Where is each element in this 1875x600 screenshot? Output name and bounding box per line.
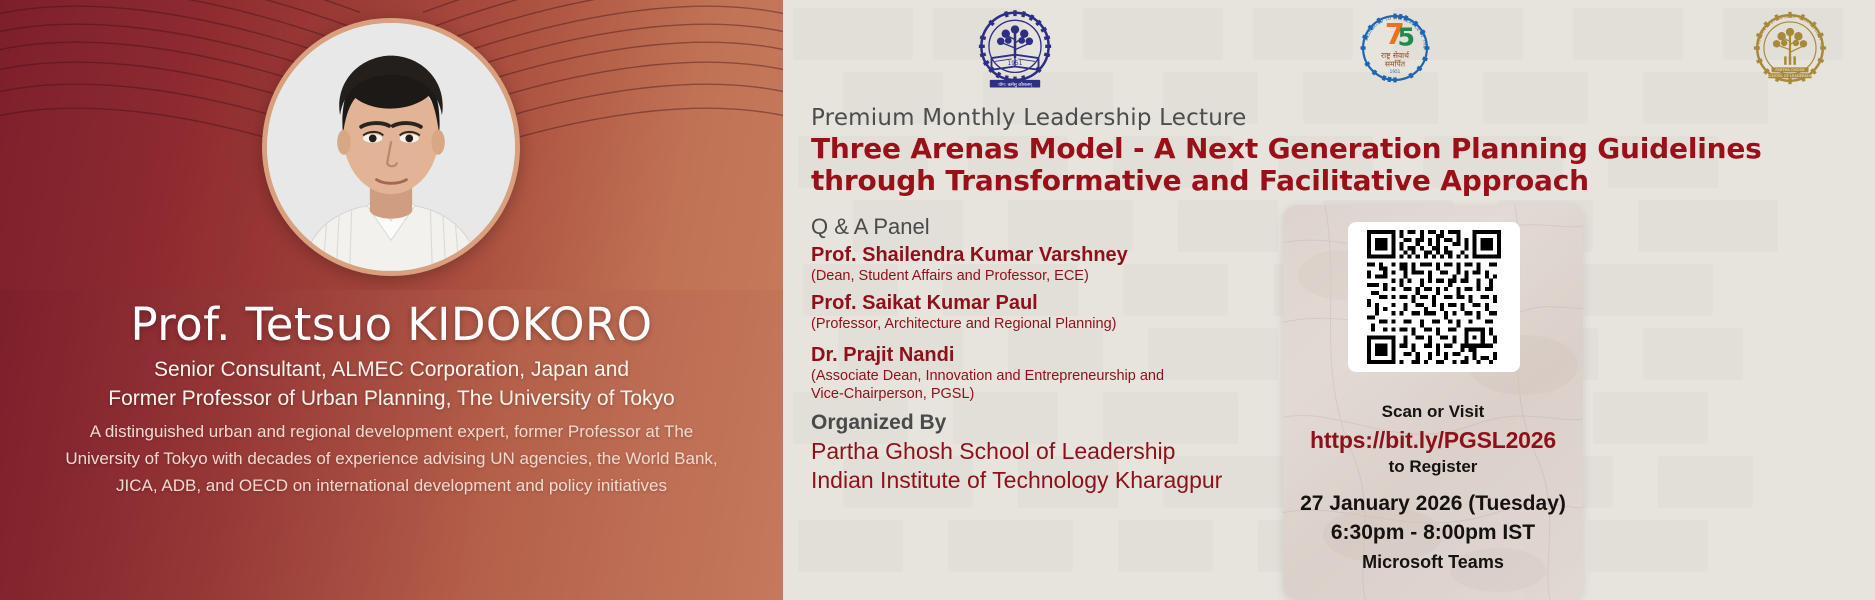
- svg-text:1951: 1951: [1008, 61, 1023, 67]
- qr-code-container[interactable]: [1348, 222, 1520, 372]
- svg-text:SCHOOL OF LEADERSHIP: SCHOOL OF LEADERSHIP: [1767, 74, 1814, 78]
- speaker-bio: A distinguished urban and regional devel…: [52, 418, 731, 499]
- qa-panel-heading: Q & A Panel: [811, 214, 930, 240]
- lecture-title: Three Arenas Model - A Next Generation P…: [811, 133, 1866, 197]
- speaker-role: Senior Consultant, ALMEC Corporation, Ja…: [40, 355, 743, 413]
- scan-instruction: Scan or Visit: [1283, 402, 1583, 422]
- organized-by-heading: Organized By: [811, 411, 946, 435]
- event-date: 27 January 2026 (Tuesday): [1283, 492, 1583, 516]
- 75-years-anniversary-logo: 7 5 राष्ट्र सेवार्थ समर्पित 1951 DEDICAT…: [1353, 6, 1437, 90]
- registration-card: Scan or Visit https://bit.ly/PGSL2026 to…: [1283, 205, 1583, 600]
- speaker-name: Prof. Tetsuo KIDOKORO: [0, 298, 783, 351]
- details-panel: 1951 योग: कर्मसु कौशलम्: [783, 0, 1875, 600]
- lecture-title-line-1: Three Arenas Model - A Next Generation P…: [811, 133, 1866, 165]
- speaker-photo: [262, 18, 520, 276]
- svg-text:समर्पित: समर्पित: [1385, 59, 1406, 68]
- partha-ghosh-school-of-leadership-logo: PARTHA GHOSH SCHOOL OF LEADERSHIP INDIAN…: [1748, 6, 1832, 90]
- portrait-illustration: [267, 23, 515, 271]
- qr-code[interactable]: [1367, 230, 1501, 364]
- svg-text:PARTHA GHOSH: PARTHA GHOSH: [1775, 68, 1804, 72]
- logo-row: 1951 योग: कर्मसु कौशलम्: [783, 0, 1875, 96]
- kicker-text: Premium Monthly Leadership Lecture: [811, 105, 1246, 131]
- speaker-role-line-1: Senior Consultant, ALMEC Corporation, Ja…: [40, 355, 743, 384]
- svg-text:1951: 1951: [1390, 69, 1401, 74]
- register-instruction: to Register: [1283, 457, 1583, 477]
- speaker-role-line-2: Former Professor of Urban Planning, The …: [40, 384, 743, 413]
- iit-kharagpur-logo: 1951 योग: कर्मसु कौशलम्: [973, 6, 1057, 90]
- event-platform: Microsoft Teams: [1283, 552, 1583, 573]
- event-time: 6:30pm - 8:00pm IST: [1283, 521, 1583, 545]
- lecture-title-line-2: through Transformative and Facilitative …: [811, 165, 1866, 197]
- speaker-panel: Prof. Tetsuo KIDOKORO Senior Consultant,…: [0, 0, 783, 600]
- lecture-poster: Prof. Tetsuo KIDOKORO Senior Consultant,…: [0, 0, 1875, 600]
- registration-url[interactable]: https://bit.ly/PGSL2026: [1283, 427, 1583, 454]
